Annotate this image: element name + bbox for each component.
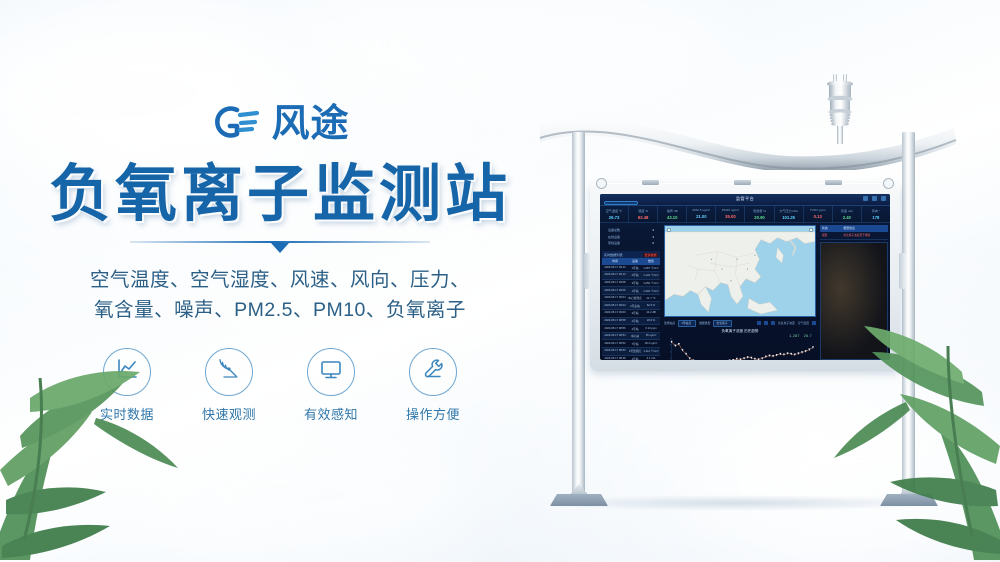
table-cell: 1号站 [627, 357, 643, 360]
table-cell: 2023-05-17 09:00 [603, 311, 627, 315]
table-row[interactable]: 2023-05-17 09:022号主站62.3 % [602, 302, 660, 310]
mount-clip-icon [825, 180, 842, 185]
table-cell: 3号监测点 [627, 349, 643, 353]
kpi-card: TVOC ppm0.13 [804, 206, 833, 222]
kpi-card: 风速 m/s2.40 [833, 206, 862, 222]
divider-caret-icon [271, 243, 289, 253]
table-cell: 44.2 dB [643, 311, 659, 315]
table-row[interactable]: 2023-05-17 09:083号站1,056 个/cm³ [602, 280, 660, 288]
camera-preview-pane[interactable] [820, 242, 888, 360]
kpi-label: 湿度 % [629, 208, 657, 213]
table-row[interactable]: 2023-05-17 08:54中心站35 ug/m³ [602, 333, 660, 341]
table-cell: 1号站 [627, 289, 643, 293]
feature-label: 有效感知 [294, 404, 368, 423]
table-row[interactable]: 2023-05-17 08:581号站20.9 % [602, 318, 660, 326]
summary-label: 在线设备 [608, 235, 620, 239]
feature-icon-ring [307, 348, 355, 396]
chart-legend-a: 负氧离子浓度 [778, 321, 795, 325]
table-cell: 7号站 [627, 342, 643, 346]
dashboard-left-column: 设备总数3在线设备3离线设备0 实时数据列表 更多数据 时间设备数值 2023-… [600, 223, 662, 360]
side-bracket-icon [584, 253, 591, 289]
radar-signal-icon [216, 356, 242, 387]
chart-export-button[interactable] [812, 321, 816, 325]
kpi-label: 氧含量 % [745, 208, 773, 213]
table-cell: 2023-05-17 08:56 [603, 327, 627, 331]
kpi-label: 大气压力 kPa [775, 208, 803, 213]
kpi-value: 43.10 [658, 215, 686, 220]
subtitle-line-2: 氧含量、噪声、PM2.5、PM10、负氧离子 [0, 295, 560, 325]
chart-value-readout: 1,287 26.7 [789, 334, 812, 338]
summary-row: 离线设备0 [606, 240, 656, 246]
chart-y-tick: 4 [670, 344, 671, 346]
feature-label: 实时数据 [90, 404, 164, 423]
kpi-card: 空气温度 ℃26.73 [600, 206, 629, 222]
kpi-value: 2.40 [833, 215, 861, 220]
base-plate [880, 494, 938, 506]
table-cell: 62.3 % [643, 304, 659, 308]
support-post-icon [572, 132, 585, 497]
chart-marker [689, 357, 691, 359]
brand-lockup: 风途 [0, 100, 560, 148]
feature-icon-ring [205, 348, 253, 396]
kpi-value: 20.90 [745, 215, 773, 220]
table-cell: 中心监测点 [627, 296, 643, 300]
header-icon-1[interactable] [863, 196, 868, 201]
kpi-card: PM10 ug/m³35.00 [716, 206, 745, 222]
alarm-table-header: 状态报警信息 [820, 225, 888, 232]
display-housing: 监管平台 空气温度 ℃26.73湿度 %62.48噪声 dB43.10PM2.5… [590, 183, 900, 371]
dashboard-right-column: 状态报警信息 报警负氧离子浓度低于阈值 [818, 223, 890, 360]
dashboard-header: 监管平台 [600, 194, 890, 206]
monitoring-station-device: 监管平台 空气温度 ℃26.73湿度 %62.48噪声 dB43.10PM2.5… [520, 70, 980, 540]
trend-chart: 1,287 26.7 01234512345678910111213141516… [664, 335, 816, 360]
table-cell: 2023-05-17 09:02 [603, 304, 627, 308]
summary-label: 设备总数 [608, 228, 620, 232]
device-summary: 设备总数3在线设备3离线设备0 [602, 225, 660, 249]
table-cell: 2号站 [627, 273, 643, 277]
mount-ring-icon [596, 178, 607, 189]
base-plate-icon [550, 488, 608, 506]
table-cell: 2023-05-17 09:12 [603, 266, 627, 270]
data-table-body: 2023-05-17 09:121号站1,287 个/cm³2023-05-17… [602, 265, 660, 361]
dashboard-screen[interactable]: 监管平台 空气温度 ℃26.73湿度 %62.48噪声 dB43.10PM2.5… [600, 194, 890, 360]
table-cell: 2023-05-17 09:10 [603, 273, 627, 277]
table-cell: 1号站 [627, 319, 643, 323]
mount-ring-icon [883, 178, 894, 189]
dashboard-header-icons[interactable] [863, 196, 886, 201]
table-cell: 2023-05-17 08:52 [603, 342, 627, 346]
feature-item-effective-sensing[interactable]: 有效感知 [294, 348, 368, 423]
data-table-badge[interactable]: 更多数据 [643, 253, 658, 257]
table-cell: 21.7 ℃ [643, 296, 659, 300]
table-cell: 1,056 个/cm³ [643, 281, 659, 285]
header-icon-2[interactable] [872, 196, 877, 201]
table-cell: 中心站 [627, 334, 643, 338]
feature-icon-ring [409, 348, 457, 396]
table-row[interactable]: 2023-05-17 09:061号站1,302 个/cm³ [602, 287, 660, 295]
feature-item-easy-operation[interactable]: 操作方便 [396, 348, 470, 423]
kpi-label: PM10 ug/m³ [716, 208, 744, 212]
chart-select-1-label: 监测站点 [664, 321, 675, 325]
kpi-label: TVOC ppm [804, 208, 832, 212]
table-cell: 2023-05-17 08:50 [603, 349, 627, 353]
chart-marker [674, 344, 676, 346]
dashboard-body: 设备总数3在线设备3离线设备0 实时数据列表 更多数据 时间设备数值 2023-… [600, 223, 890, 360]
chart-select-1[interactable]: 1号站点 [678, 320, 696, 328]
alarm-column-header: 状态 [822, 226, 843, 230]
base-plate-icon [880, 488, 938, 506]
kpi-label: PM2.5 ug/m³ [687, 208, 715, 212]
kpi-value: 0.13 [804, 214, 832, 219]
chart-value-left: 1,287 [789, 334, 800, 338]
background-cloud-blob [120, 420, 480, 562]
subtitle-line-1: 空气温度、空气湿度、风速、风向、压力、 [0, 265, 560, 295]
summary-label: 离线设备 [608, 241, 620, 245]
brand-name: 风途 [271, 105, 349, 143]
kpi-value: 62.48 [629, 215, 657, 220]
side-bracket-icon [899, 253, 906, 289]
table-cell: 0.13 ppm [643, 327, 659, 331]
kpi-label: 风速 m/s [833, 208, 861, 213]
map-fullscreen-control-icon[interactable] [809, 228, 813, 232]
table-row[interactable]: 2023-05-17 09:003号站44.2 dB [602, 310, 660, 318]
support-post-icon [902, 132, 915, 497]
data-table-title: 实时数据列表 [604, 252, 623, 257]
feature-label: 操作方便 [396, 404, 470, 423]
kpi-label: 空气温度 ℃ [600, 208, 628, 213]
table-cell: 2023-05-17 09:06 [603, 289, 627, 293]
table-column-header: 时间 [603, 259, 627, 263]
kpi-label: 噪声 dB [658, 208, 686, 213]
table-cell: 1号站 [627, 266, 643, 270]
table-cell: 1,302 个/cm³ [643, 289, 659, 293]
chart-y-tick: 2 [670, 357, 671, 359]
mount-clip-icon [642, 180, 659, 185]
kpi-card: 噪声 dB43.10 [658, 206, 687, 222]
dashboard-center-column: 监测站点 1号站点 数据类型 负氧离子 负氧离子浓度 空气温度 [662, 223, 818, 360]
table-column-header: 数值 [643, 259, 659, 263]
wind-g-logo-icon [210, 102, 262, 147]
kpi-value: 26.73 [600, 215, 628, 220]
feature-icon-ring [103, 348, 151, 396]
table-cell: 3号站 [627, 311, 643, 315]
kpi-label: 风向 ° [862, 208, 890, 213]
monitor-icon [318, 356, 344, 387]
feature-label: 快速观测 [192, 404, 266, 423]
table-cell: 2号站 [627, 327, 643, 331]
wave-canopy-icon [538, 104, 958, 170]
china-map[interactable] [664, 225, 816, 317]
table-cell: 2023-05-17 08:48 [603, 357, 627, 360]
kpi-card: 风向 °178 [862, 206, 890, 222]
table-row[interactable]: 2023-05-17 08:481号站2.4 m/s [602, 356, 660, 360]
kpi-card: 氧含量 %20.90 [745, 206, 774, 222]
table-row[interactable]: 2023-05-17 09:121号站1,287 个/cm³ [602, 265, 660, 273]
summary-value: 0 [652, 241, 654, 245]
page-title: 负氧离子监测站 [0, 162, 560, 227]
wrench-icon [420, 356, 446, 387]
table-cell: 3号站 [627, 281, 643, 285]
table-cell: 2023-05-17 08:54 [603, 334, 627, 338]
table-cell: 2023-05-17 09:04 [603, 296, 627, 300]
chart-select-2-label: 数据类型 [699, 321, 710, 325]
toolbar-chip-icon[interactable] [764, 321, 768, 325]
chart-line-series [672, 342, 813, 360]
chart-plot: 0123451234567891011121314151617181920212… [664, 335, 816, 360]
table-cell: 2023-05-17 09:08 [603, 281, 627, 285]
promo-banner: 风途 负氧离子监测站 空气温度、空气湿度、风速、风向、压力、 氧含量、噪声、PM… [0, 0, 1000, 562]
table-cell: 2.4 m/s [643, 357, 659, 360]
chart-axes [672, 338, 813, 360]
line-chart-icon [114, 356, 140, 387]
table-row[interactable]: 2023-05-17 09:04中心监测点21.7 ℃ [602, 295, 660, 303]
alarm-column-header: 报警信息 [843, 226, 886, 230]
kpi-value: 178 [862, 215, 890, 220]
table-row[interactable]: 2023-05-17 08:527号站18.4 ug/m³ [602, 340, 660, 348]
dashboard-title: 监管平台 [600, 196, 890, 202]
base-plate [550, 494, 608, 506]
table-cell: 1,411 个/cm³ [643, 349, 659, 353]
chart-value-right: 26.7 [804, 334, 812, 338]
toolbar-chip-icon[interactable] [771, 321, 775, 325]
chart-toolbar[interactable]: 监测站点 1号站点 数据类型 负氧离子 负氧离子浓度 空气温度 [664, 320, 816, 328]
kpi-value: 21.00 [687, 214, 715, 219]
feature-item-fast-observation[interactable]: 快速观测 [192, 348, 266, 423]
feature-item-realtime-data[interactable]: 实时数据 [90, 348, 164, 423]
toolbar-chip-icon[interactable] [757, 321, 761, 325]
table-cell: 18.4 ug/m³ [643, 342, 659, 346]
kpi-value: 101.25 [775, 215, 803, 220]
summary-value: 3 [652, 235, 654, 239]
chart-marker [812, 346, 814, 348]
summary-value: 3 [652, 228, 654, 232]
alarm-cell: 报警 [822, 233, 843, 237]
table-cell: 1,287 个/cm³ [643, 266, 659, 270]
mount-clip-icon [734, 180, 751, 185]
kpi-value: 35.00 [716, 214, 744, 219]
kpi-card: 湿度 %62.48 [629, 206, 658, 222]
hero-text-panel: 风途 负氧离子监测站 空气温度、空气湿度、风速、风向、压力、 氧含量、噪声、PM… [0, 100, 560, 423]
subtitle-block: 空气温度、空气湿度、风速、风向、压力、 氧含量、噪声、PM2.5、PM10、负氧… [0, 265, 560, 325]
map-layer-control-icon[interactable] [667, 228, 671, 232]
chart-y-tick: 5 [670, 338, 671, 340]
table-cell: 35 ug/m³ [643, 334, 659, 338]
feature-list: 实时数据 快速观测 [0, 348, 560, 423]
alarm-cell: 负氧离子浓度低于阈值 [843, 233, 886, 237]
chart-select-2[interactable]: 负氧离子 [713, 320, 731, 328]
chart-y-tick: 3 [670, 351, 671, 353]
table-cell: 2023-05-17 08:58 [603, 319, 627, 323]
map-graphic [665, 226, 815, 316]
alarm-row[interactable]: 报警负氧离子浓度低于阈值 [820, 232, 888, 240]
table-row[interactable]: 2023-05-17 08:562号站0.13 ppm [602, 325, 660, 333]
table-row[interactable]: 2023-05-17 09:102号站1,134 个/cm³ [602, 272, 660, 280]
table-row[interactable]: 2023-05-17 08:503号监测点1,411 个/cm³ [602, 348, 660, 356]
title-divider [130, 241, 430, 253]
header-icon-3[interactable] [881, 196, 886, 201]
table-cell: 2号主站 [627, 304, 643, 308]
table-cell: 20.9 % [643, 319, 659, 323]
table-cell: 1,134 个/cm³ [643, 273, 659, 277]
kpi-card: PM2.5 ug/m³21.00 [687, 206, 716, 222]
data-table-header: 实时数据列表 更多数据 [602, 251, 660, 258]
kpi-row: 空气温度 ℃26.73湿度 %62.48噪声 dB43.10PM2.5 ug/m… [600, 206, 890, 223]
chart-legend-b: 空气温度 [798, 321, 809, 325]
alarm-table-body: 报警负氧离子浓度低于阈值 [820, 232, 888, 240]
kpi-card: 大气压力 kPa101.25 [775, 206, 804, 222]
table-column-header: 设备 [627, 259, 643, 263]
